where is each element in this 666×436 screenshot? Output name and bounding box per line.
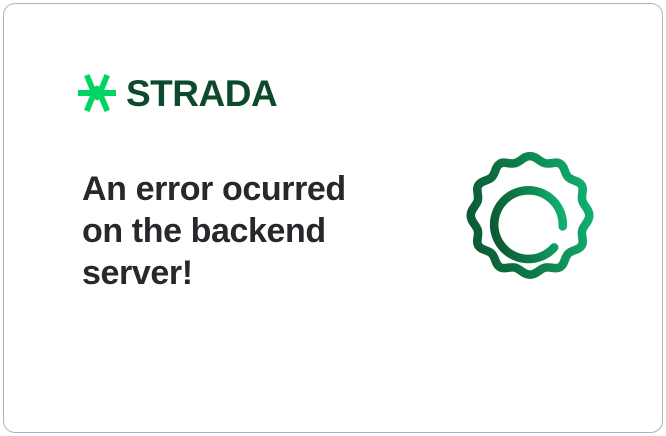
strada-asterisk-icon <box>78 74 116 112</box>
error-message: An error ocurred on the backend server! <box>82 168 372 294</box>
brand-wordmark: STRADA <box>126 75 277 112</box>
gear-cog-icon <box>452 146 608 302</box>
brand-lockup: STRADA <box>78 74 277 112</box>
error-card: STRADA An error ocurred on the backend s… <box>3 3 663 433</box>
